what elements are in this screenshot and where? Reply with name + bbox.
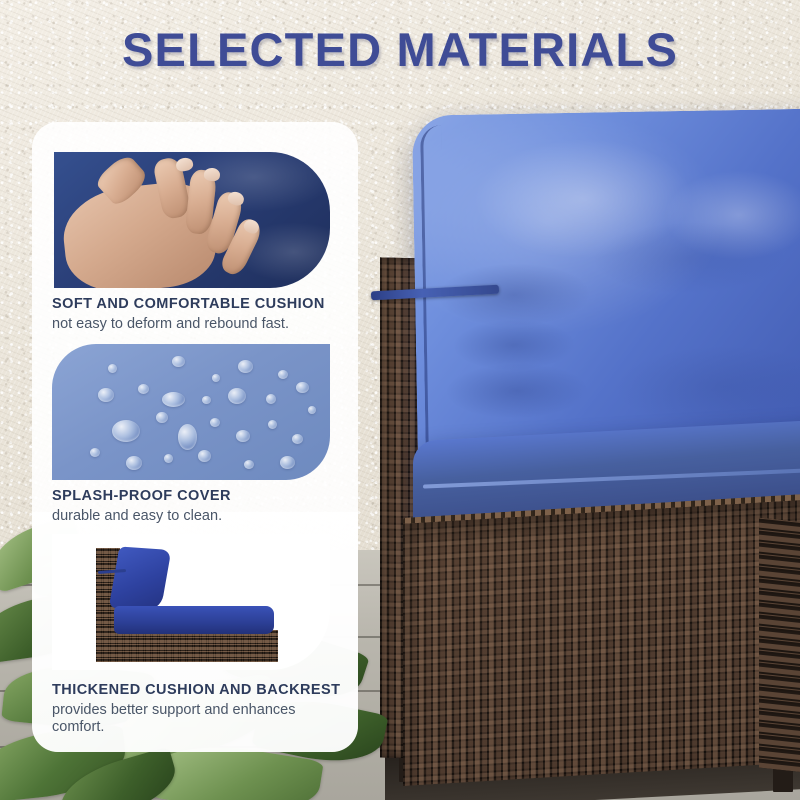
render-base <box>96 630 278 662</box>
feature-image-splash-proof <box>52 344 330 480</box>
feature-description: durable and easy to clean. <box>52 508 342 526</box>
feature-block-splash-proof: SPLASH-PROOF COVER durable and easy to c… <box>52 488 342 525</box>
marketing-image: SELECTED MATERIALS SOFT AND COMFORTABLE … <box>0 0 800 800</box>
render-backrest <box>109 546 172 611</box>
feature-description: not easy to deform and rebound fast. <box>52 316 342 334</box>
feature-image-thickened-cushion <box>52 534 330 670</box>
feature-description: provides better support and enhances com… <box>52 702 342 737</box>
feature-title: SPLASH-PROOF COVER <box>52 488 342 505</box>
feature-block-thickened-cushion: THICKENED CUSHION AND BACKREST provides … <box>52 682 342 737</box>
wicker-base-front <box>403 500 800 786</box>
feature-title: THICKENED CUSHION AND BACKREST <box>52 682 342 699</box>
feature-image-soft-cushion <box>54 152 330 288</box>
page-title: SELECTED MATERIALS <box>0 22 800 77</box>
wicker-base-right-edge <box>759 518 800 773</box>
feature-block-soft-cushion: SOFT AND COMFORTABLE CUSHION not easy to… <box>52 296 342 333</box>
product-photo <box>355 0 800 800</box>
seat-piping <box>423 467 800 488</box>
feature-title: SOFT AND COMFORTABLE CUSHION <box>52 296 342 313</box>
render-seat <box>114 606 274 634</box>
